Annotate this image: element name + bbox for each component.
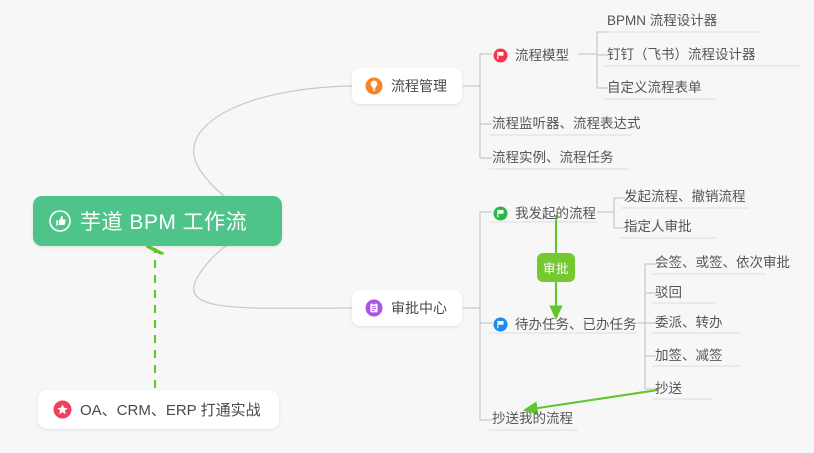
star-icon	[53, 400, 72, 419]
leaf-assignee-approval[interactable]: 指定人审批	[622, 215, 694, 240]
leaf-label-todo-done-tasks: 待办任务、已办任务	[515, 316, 637, 333]
leaf-todo-done-tasks[interactable]: 待办任务、已办任务	[491, 313, 639, 338]
approval-chip-label: 审批	[543, 258, 569, 277]
leaf-my-initiated[interactable]: 我发起的流程	[491, 202, 598, 227]
leaf-label-my-initiated: 我发起的流程	[515, 205, 596, 222]
integration-label: OA、CRM、ERP 打通实战	[80, 399, 261, 420]
mindmap-canvas: 芋道 BPM 工作流 流程管理 审批中心	[0, 0, 814, 453]
leaf-countersign[interactable]: 会签、或签、依次审批	[653, 251, 792, 276]
leaf-label-process-model: 流程模型	[515, 47, 569, 64]
leaf-add-remove-sign[interactable]: 加签、减签	[653, 344, 725, 369]
approval-annotation-chip[interactable]: 审批	[537, 253, 575, 282]
root-label: 芋道 BPM 工作流	[80, 206, 247, 236]
leaf-process-model[interactable]: 流程模型	[491, 44, 571, 69]
leaf-dingtalk-designer[interactable]: 钉钉（飞书）流程设计器	[605, 43, 758, 68]
lightbulb-icon	[365, 77, 383, 95]
leaf-reject[interactable]: 驳回	[653, 281, 684, 306]
root-node[interactable]: 芋道 BPM 工作流	[33, 196, 282, 246]
leaf-process-instance[interactable]: 流程实例、流程任务	[490, 146, 616, 171]
leaf-start-cancel-process[interactable]: 发起流程、撤销流程	[622, 185, 748, 210]
integration-node[interactable]: OA、CRM、ERP 打通实战	[38, 390, 279, 429]
branch-label-process-management: 流程管理	[391, 76, 447, 96]
leaf-custom-form[interactable]: 自定义流程表单	[605, 76, 704, 101]
leaf-cc-to-me[interactable]: 抄送我的流程	[490, 407, 575, 432]
thumbs-up-icon	[49, 210, 71, 232]
flag-icon-blue	[493, 317, 508, 332]
flag-icon-green	[493, 206, 508, 221]
clipboard-icon	[365, 299, 383, 317]
flag-icon-red	[493, 48, 508, 63]
branch-label-approval-center: 审批中心	[391, 298, 447, 318]
branch-node-process-management[interactable]: 流程管理	[352, 68, 462, 104]
leaf-bpmn-designer[interactable]: BPMN 流程设计器	[605, 9, 719, 34]
leaf-delegate-transfer[interactable]: 委派、转办	[653, 311, 725, 336]
leaf-process-listener[interactable]: 流程监听器、流程表达式	[490, 112, 643, 137]
branch-node-approval-center[interactable]: 审批中心	[352, 290, 462, 326]
leaf-cc[interactable]: 抄送	[653, 377, 684, 402]
